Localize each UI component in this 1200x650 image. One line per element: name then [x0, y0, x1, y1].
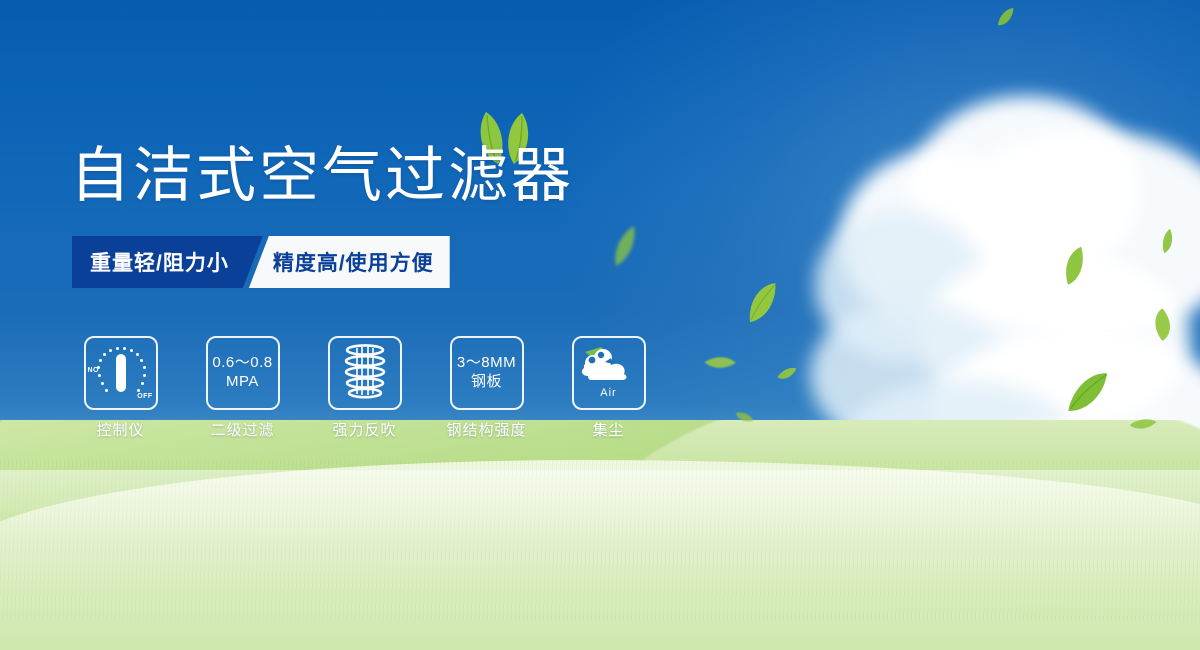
- subtitle-right-segment: 精度高/使用方便: [249, 236, 450, 288]
- subtitle-bar: 重量轻/阻力小 精度高/使用方便: [72, 236, 462, 288]
- pressure-value-line1: 0.6～0.8: [212, 354, 272, 373]
- feature-label: 二级过滤: [210, 419, 274, 440]
- pressure-value-line2: MPA: [226, 373, 259, 392]
- feature-list: NO OFF 控制仪 0.6～0.8 MPA 二级过滤: [72, 336, 657, 440]
- page-title: 自洁式空气过滤器: [70, 146, 574, 206]
- feature-item-controller[interactable]: NO OFF 控制仪: [72, 336, 169, 440]
- feature-item-dust-collection[interactable]: Air 集尘: [560, 336, 657, 440]
- filter-stack-icon: [339, 343, 391, 404]
- feature-icon-box: NO OFF: [84, 336, 158, 410]
- feature-item-backblow[interactable]: 强力反吹: [316, 336, 413, 440]
- feature-icon-box: [328, 336, 402, 410]
- subtitle-left-segment: 重量轻/阻力小: [72, 236, 263, 288]
- gauge-needle: [116, 354, 126, 392]
- feature-label: 强力反吹: [332, 419, 396, 440]
- banner-content: 自洁式空气过滤器 重量轻/阻力小 精度高/使用方便: [0, 0, 1200, 650]
- steel-value-line1: 3～8MM: [457, 354, 516, 373]
- feature-icon-box: Air: [572, 336, 646, 410]
- air-cloud-icon: [579, 346, 639, 386]
- air-filter-hero-banner: 自洁式空气过滤器 重量轻/阻力小 精度高/使用方便: [0, 0, 1200, 650]
- feature-label: 钢结构强度: [446, 419, 526, 440]
- feature-item-two-stage-filter[interactable]: 0.6～0.8 MPA 二级过滤: [194, 336, 291, 440]
- feature-item-steel-strength[interactable]: 3～8MM 钢板 钢结构强度: [438, 336, 535, 440]
- gauge-off-label: OFF: [137, 393, 152, 400]
- steel-value-line2: 钢板: [471, 373, 502, 392]
- feature-icon-box: 3～8MM 钢板: [450, 336, 524, 410]
- air-label: Air: [577, 387, 641, 399]
- gauge-no-label: NO: [88, 367, 99, 374]
- feature-label: 集尘: [592, 419, 624, 440]
- feature-label: 控制仪: [96, 419, 144, 440]
- gauge-icon: NO OFF: [88, 342, 154, 404]
- feature-icon-box: 0.6～0.8 MPA: [206, 336, 280, 410]
